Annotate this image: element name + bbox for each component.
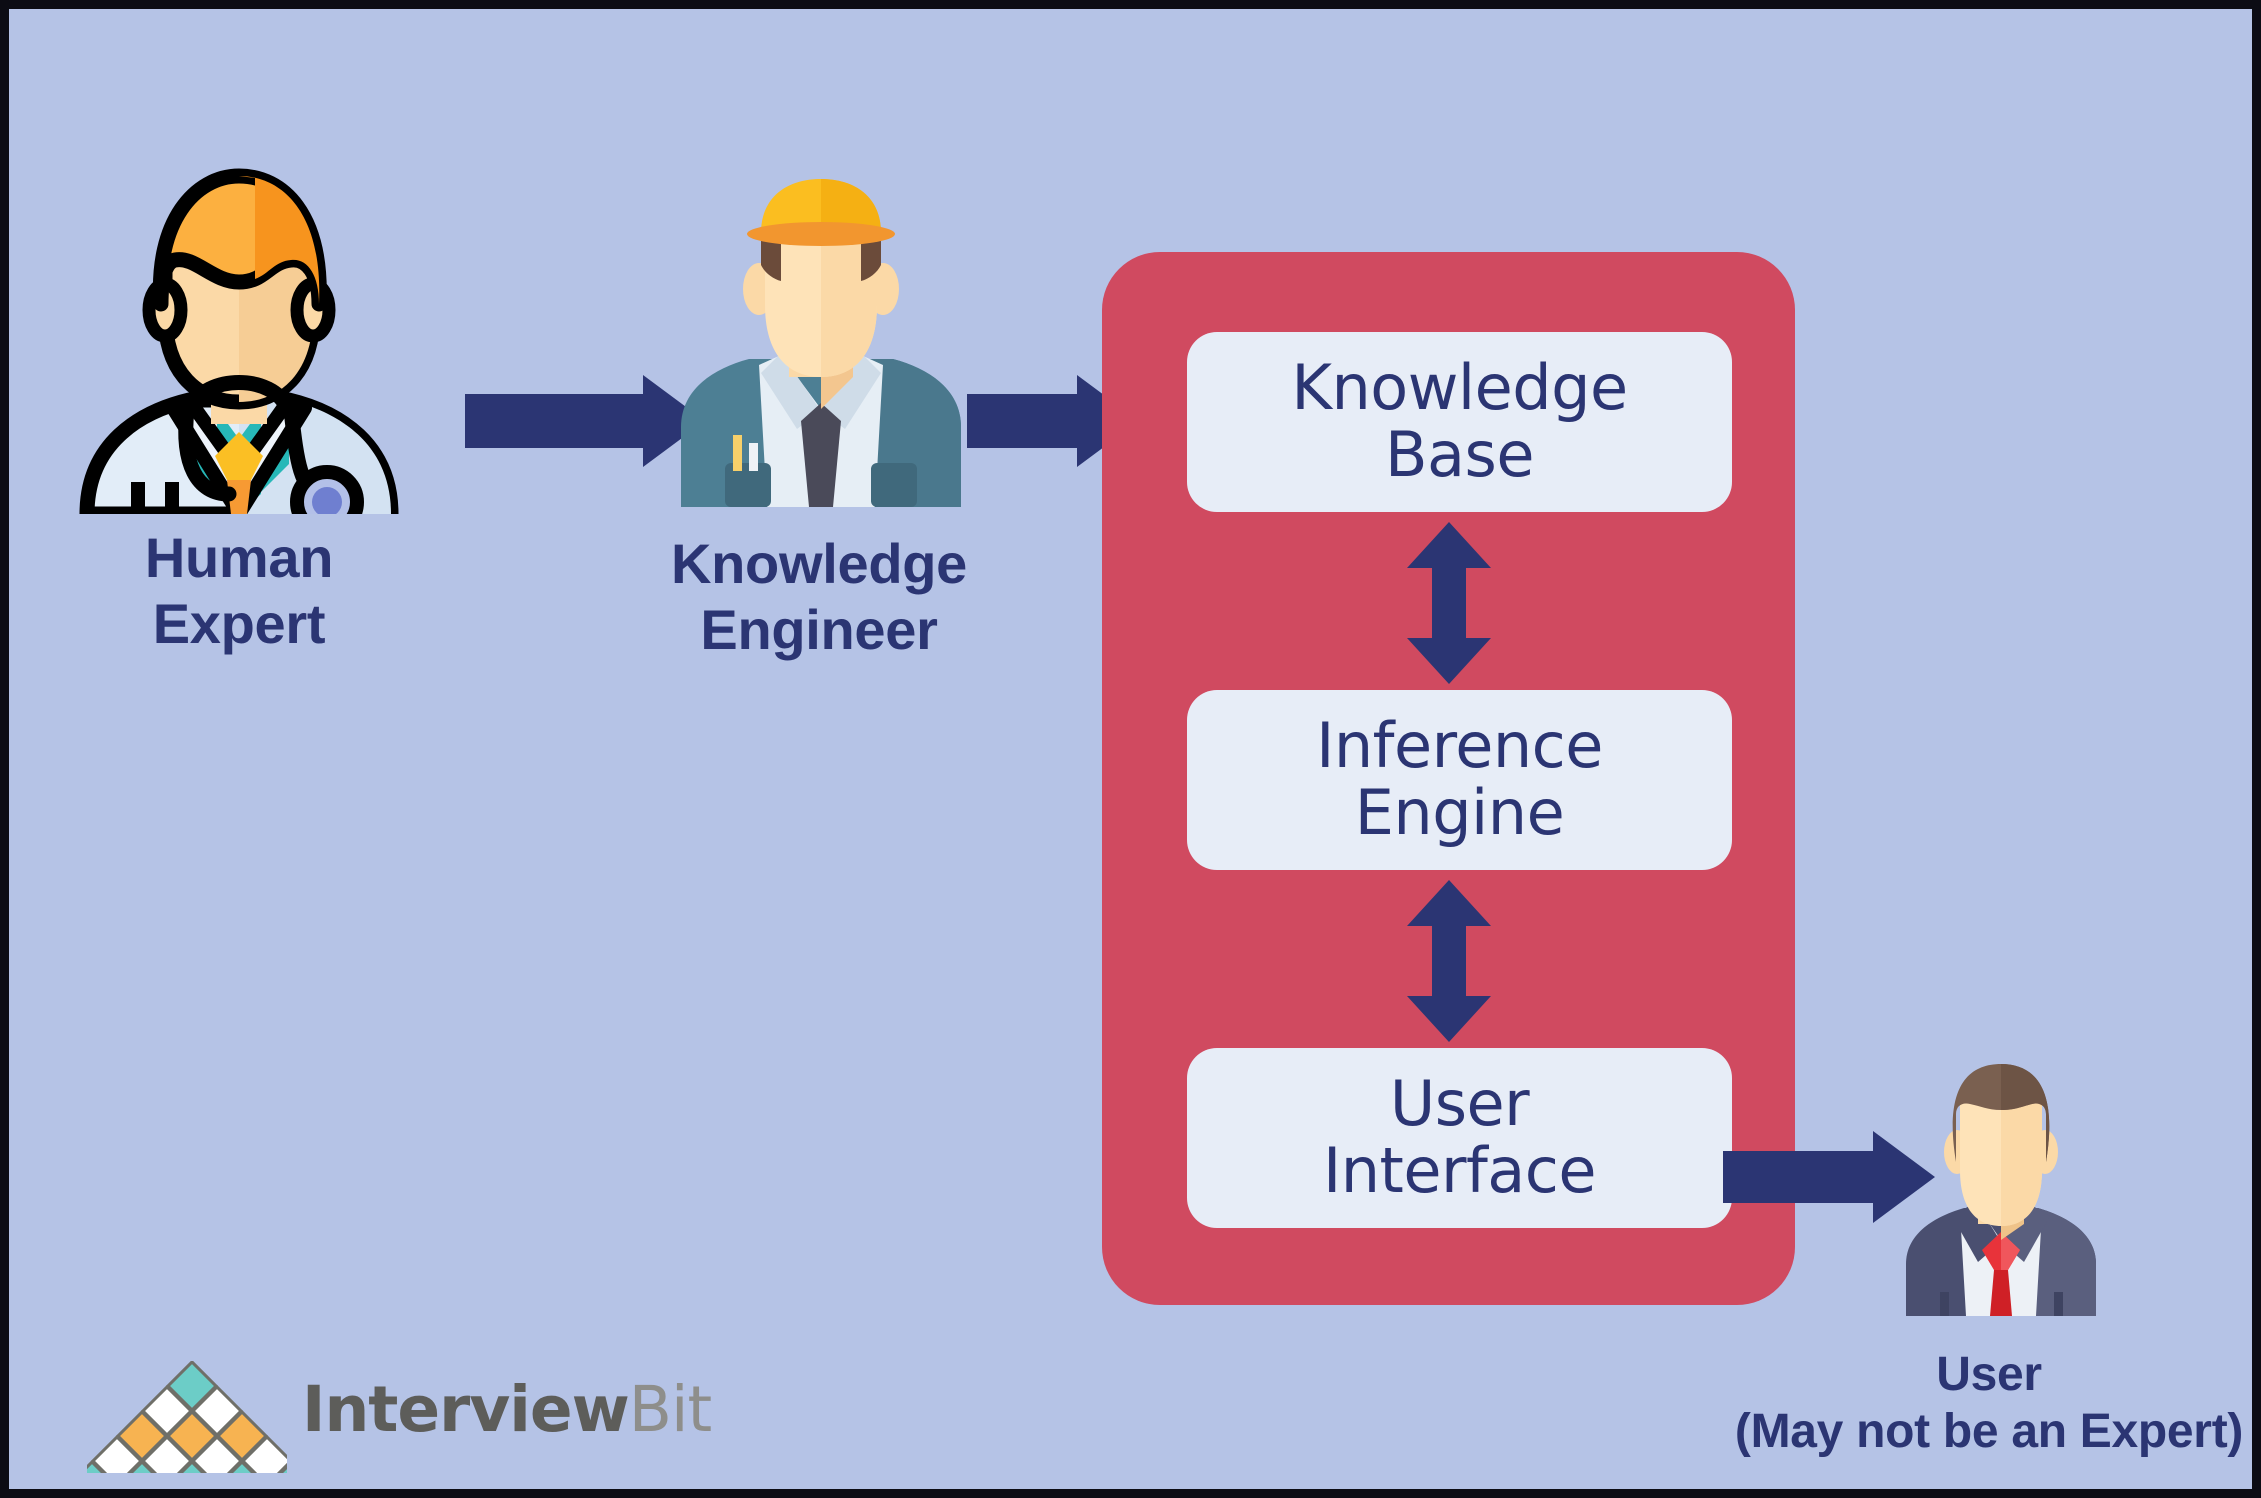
engineer-avatar-icon — [677, 177, 965, 507]
user-interface-box[interactable]: User Interface — [1187, 1048, 1732, 1228]
arrow-inference-to-ui — [1432, 926, 1466, 996]
arrow-kb-to-inference — [1432, 568, 1466, 638]
inference-engine-box[interactable]: Inference Engine — [1187, 690, 1732, 870]
arrow-engineer-to-knowledge-base — [967, 394, 1077, 448]
diagram-canvas: Human Expert — [0, 0, 2261, 1498]
logo-word-bit: Bit — [629, 1373, 711, 1446]
expert-system-panel: Knowledge Base Inference Engine User Int… — [1102, 252, 1795, 1305]
user-figure — [1902, 1056, 2100, 1316]
human-expert-figure — [69, 164, 409, 514]
knowledge-engineer-label: Knowledge Engineer — [639, 531, 999, 663]
businessman-avatar-icon — [1902, 1056, 2100, 1316]
interviewbit-diamond-mark — [87, 1361, 287, 1473]
doctor-avatar-icon — [69, 164, 409, 514]
interviewbit-wordmark: InterviewBit — [302, 1373, 711, 1446]
logo-word-interview: Interview — [302, 1373, 629, 1446]
human-expert-label: Human Expert — [89, 525, 389, 657]
knowledge-base-box[interactable]: Knowledge Base — [1187, 332, 1732, 512]
knowledge-engineer-figure — [677, 177, 965, 507]
user-label: User (May not be an Expert) — [1709, 1347, 2261, 1460]
arrow-ui-to-user — [1723, 1151, 1873, 1203]
interviewbit-logo[interactable]: InterviewBit — [87, 1361, 287, 1478]
arrow-expert-to-engineer — [465, 394, 643, 448]
